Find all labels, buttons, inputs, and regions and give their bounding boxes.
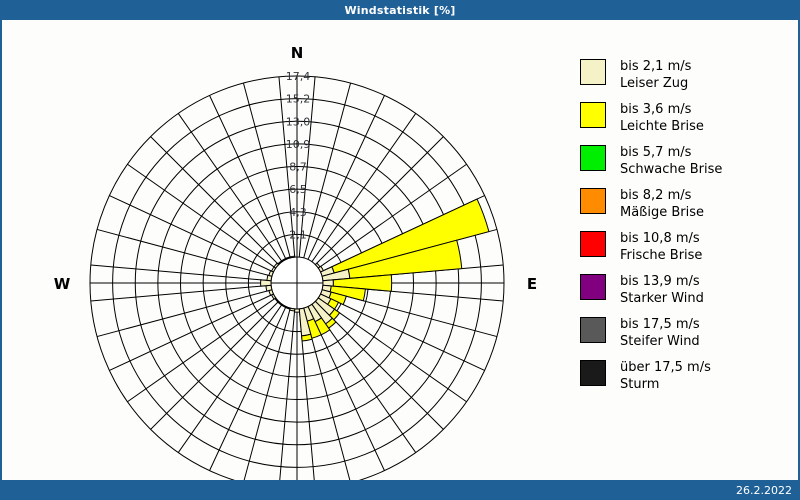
legend-color-swatch — [580, 59, 606, 85]
window-titlebar: Windstatistik [%] — [0, 0, 800, 20]
status-date: 26.2.2022 — [736, 484, 792, 497]
grid-spoke — [321, 294, 485, 370]
grid-spoke — [243, 308, 290, 480]
radial-tick-label: 8,7 — [289, 161, 307, 174]
legend-item[interactable]: bis 17,5 m/sSteifer Wind — [580, 316, 790, 350]
legend-item[interactable]: bis 10,8 m/sFrische Brise — [580, 230, 790, 264]
window-title: Windstatistik [%] — [344, 4, 455, 17]
grid-spoke — [151, 301, 279, 429]
windrose-plot: 2,14,36,58,710,913,015,217,4NESW — [2, 20, 562, 480]
radial-tick-label: 6,5 — [289, 183, 307, 196]
legend-speed-range: über 17,5 m/s — [620, 359, 711, 376]
legend-beaufort-name: Leichte Brise — [620, 118, 704, 135]
legend-color-swatch — [580, 102, 606, 128]
grid-spoke — [109, 196, 273, 272]
legend-item[interactable]: bis 5,7 m/sSchwache Brise — [580, 144, 790, 178]
legend-color-swatch — [580, 274, 606, 300]
legend-label: bis 2,1 m/sLeiser Zug — [620, 58, 691, 92]
legend-label: über 17,5 m/sSturm — [620, 359, 711, 393]
windrose-svg: 2,14,36,58,710,913,015,217,4NESW — [2, 20, 562, 480]
windrose-wedge — [302, 334, 312, 341]
legend-beaufort-name: Schwache Brise — [620, 161, 722, 178]
radial-tick-label: 2,1 — [289, 228, 307, 241]
radial-tick-label: 10,9 — [286, 138, 311, 151]
compass-label-w: W — [54, 275, 71, 293]
radial-tick-label: 4,3 — [289, 206, 307, 219]
windrose-wedge — [290, 256, 295, 258]
legend-speed-range: bis 13,9 m/s — [620, 273, 704, 290]
legend-beaufort-name: Sturm — [620, 376, 711, 393]
legend-speed-range: bis 8,2 m/s — [620, 187, 704, 204]
chart-content-area: 2,14,36,58,710,913,015,217,4NESW bis 2,1… — [0, 20, 800, 480]
grid-spoke — [210, 95, 286, 259]
compass-label-e: E — [527, 275, 537, 293]
windrose-wedge — [294, 309, 299, 312]
legend-color-swatch — [580, 231, 606, 257]
legend-speed-range: bis 5,7 m/s — [620, 144, 722, 161]
legend-beaufort-name: Mäßige Brise — [620, 204, 704, 221]
legend-label: bis 8,2 m/sMäßige Brise — [620, 187, 704, 221]
wind-statistics-window: Windstatistik [%] 2,14,36,58,710,913,015… — [0, 0, 800, 500]
legend-item[interactable]: bis 3,6 m/sLeichte Brise — [580, 101, 790, 135]
grid-spoke — [308, 95, 384, 259]
legend-beaufort-name: Frische Brise — [620, 247, 702, 264]
legend-color-swatch — [580, 317, 606, 343]
window-statusbar: 26.2.2022 — [0, 480, 800, 500]
legend-color-swatch — [580, 188, 606, 214]
legend: bis 2,1 m/sLeiser Zugbis 3,6 m/sLeichte … — [580, 58, 790, 402]
legend-speed-range: bis 17,5 m/s — [620, 316, 700, 333]
radial-tick-label: 15,2 — [286, 93, 311, 106]
legend-item[interactable]: bis 13,9 m/sStarker Wind — [580, 273, 790, 307]
legend-beaufort-name: Steifer Wind — [620, 333, 700, 350]
legend-speed-range: bis 10,8 m/s — [620, 230, 702, 247]
legend-label: bis 17,5 m/sSteifer Wind — [620, 316, 700, 350]
grid-spoke — [304, 83, 351, 258]
legend-beaufort-name: Leiser Zug — [620, 75, 691, 92]
grid-spoke — [279, 309, 295, 480]
legend-speed-range: bis 3,6 m/s — [620, 101, 704, 118]
polar-grid — [90, 76, 504, 480]
legend-item[interactable]: bis 8,2 m/sMäßige Brise — [580, 187, 790, 221]
grid-spoke — [97, 229, 272, 276]
legend-label: bis 3,6 m/sLeichte Brise — [620, 101, 704, 135]
legend-label: bis 10,8 m/sFrische Brise — [620, 230, 702, 264]
legend-item[interactable]: über 17,5 m/sSturm — [580, 359, 790, 393]
radial-tick-label: 17,4 — [286, 70, 311, 83]
radial-tick-label: 13,0 — [286, 115, 311, 128]
legend-label: bis 13,9 m/sStarker Wind — [620, 273, 704, 307]
grid-spoke — [243, 83, 290, 258]
compass-label-n: N — [291, 44, 304, 62]
grid-spoke — [109, 294, 273, 370]
grid-spoke — [151, 137, 279, 265]
legend-color-swatch — [580, 145, 606, 171]
legend-item[interactable]: bis 2,1 m/sLeiser Zug — [580, 58, 790, 92]
legend-color-swatch — [580, 360, 606, 386]
grid-spoke — [97, 290, 272, 337]
legend-beaufort-name: Starker Wind — [620, 290, 704, 307]
grid-spoke — [210, 307, 286, 471]
legend-label: bis 5,7 m/sSchwache Brise — [620, 144, 722, 178]
legend-speed-range: bis 2,1 m/s — [620, 58, 691, 75]
